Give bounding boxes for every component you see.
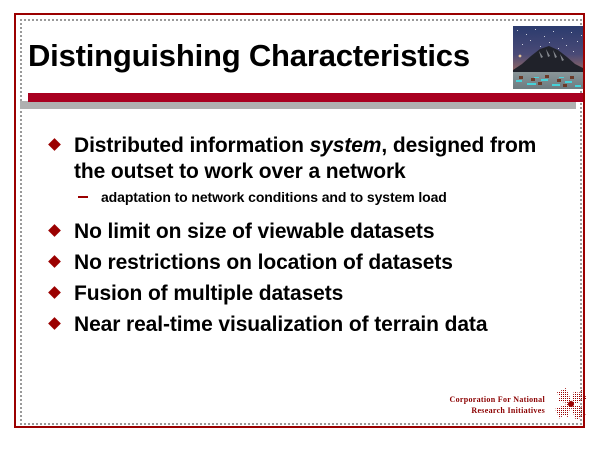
bullet-text: No restrictions on location of datasets (74, 250, 558, 276)
list-item: No restrictions on location of datasets (48, 250, 558, 276)
bullet-text-prefix: Distributed information (74, 134, 310, 157)
diamond-bullet-icon (48, 224, 61, 237)
diamond-bullet-icon (48, 138, 61, 151)
page-title: Distinguishing Characteristics (28, 36, 488, 76)
diamond-bullet-icon (48, 255, 61, 268)
footer-line-2: Research Initiatives (430, 405, 545, 416)
bullet-text: No limit on size of viewable datasets (74, 219, 558, 245)
list-item: No limit on size of viewable datasets (48, 219, 558, 245)
title-divider-shadow (20, 101, 576, 109)
list-item: Distributed information system, designed… (48, 133, 558, 185)
terrain-thumbnail-image (513, 26, 583, 89)
sub-list-item: adaptation to network conditions and to … (48, 187, 558, 207)
bullet-list: Distributed information system, designed… (48, 133, 558, 338)
sub-bullet-text: adaptation to network conditions and to … (101, 187, 558, 207)
bullet-text-emphasis: system (310, 134, 382, 157)
footer-line-1: Corporation For National (430, 394, 545, 405)
footer-organization-name: Corporation For National Research Initia… (430, 394, 545, 416)
bullet-text: Near real-time visualization of terrain … (74, 312, 558, 338)
list-item: Fusion of multiple datasets (48, 281, 558, 307)
bullet-text: Fusion of multiple datasets (74, 281, 558, 307)
dash-bullet-icon (78, 196, 88, 198)
presentation-slide: Distinguishing Characteristics (0, 0, 600, 450)
title-divider-bar (28, 93, 583, 102)
diamond-bullet-icon (48, 317, 61, 330)
pinwheel-logo-icon (553, 386, 589, 422)
diamond-bullet-icon (48, 286, 61, 299)
bullet-text: Distributed information system, designed… (74, 133, 558, 185)
list-item: Near real-time visualization of terrain … (48, 312, 558, 338)
